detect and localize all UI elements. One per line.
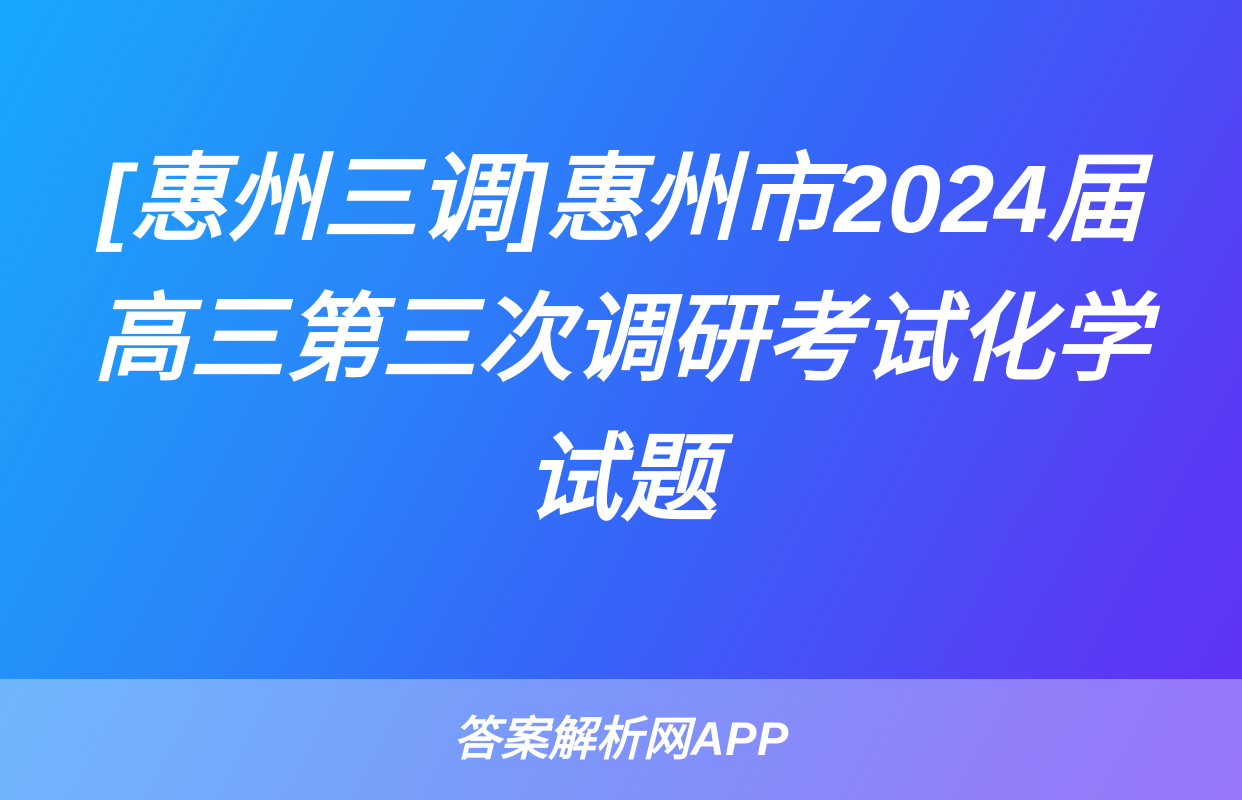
poster-canvas: [惠州三调]惠州市2024届高三第三次调研考试化学试题 答案解析网APP: [0, 0, 1242, 800]
app-watermark-label: 答案解析网APP: [453, 715, 789, 764]
page-title: [惠州三调]惠州市2024届高三第三次调研考试化学试题: [86, 130, 1156, 550]
headline-container: [惠州三调]惠州市2024届高三第三次调研考试化学试题: [0, 0, 1242, 679]
watermark-band: 答案解析网APP: [0, 679, 1242, 800]
